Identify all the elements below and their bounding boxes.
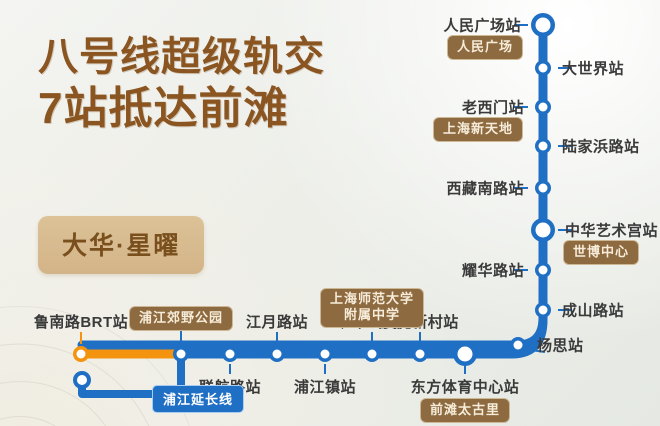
- poi-badge-line: 世博中心: [573, 244, 629, 260]
- headline-line-2: 7站抵达前滩: [38, 86, 325, 132]
- station-label-laoximen: 老西门站: [462, 97, 524, 118]
- station-dot-yaohua-lu[interactable]: [535, 262, 551, 278]
- station-dot-chengshan-lu[interactable]: [535, 302, 551, 318]
- station-dot-dashijie[interactable]: [535, 60, 551, 76]
- poi-badge-zhonghua-yishugong: 世博中心: [563, 240, 639, 265]
- station-dot-lunan-lu-brt[interactable]: [73, 346, 89, 362]
- station-label-yaohua-lu: 耀华路站: [462, 260, 524, 281]
- station-dot-shendu-gonglu[interactable]: [173, 346, 189, 362]
- poi-badge-renmin-guangchang: 人民广场: [447, 35, 523, 60]
- metro-line-poster: 八号线超级轨交 7站抵达前滩 大华·星曜: [0, 0, 660, 426]
- station-label-dashijie: 大世界站: [562, 58, 624, 79]
- station-dot-lujiabang-lu[interactable]: [535, 138, 551, 154]
- station-label-chengshan-lu: 成山路站: [562, 300, 624, 321]
- station-dot-jiangyue-lu[interactable]: [269, 346, 285, 362]
- headline-block: 八号线超级轨交 7站抵达前滩: [38, 36, 325, 132]
- poi-badge-laoximen: 上海新天地: [433, 117, 523, 142]
- station-label-pujiang-zhen: 浦江镇站: [294, 376, 356, 397]
- station-dot-pujiang-zhen[interactable]: [317, 346, 333, 362]
- poi-badge-luheng-lu: 上海师范大学附属中学: [320, 288, 424, 328]
- station-label-dongfang-tiyu: 东方体育中心站: [411, 376, 520, 397]
- station-label-lujiabang-lu: 陆家浜路站: [562, 136, 640, 157]
- station-label-lunan-lu-brt: 鲁南路BRT站: [34, 311, 128, 332]
- station-dot-laoximen[interactable]: [535, 99, 551, 115]
- poi-badge-line: 浦江郊野公园: [139, 310, 223, 326]
- station-dot-lingzhao-xincun[interactable]: [412, 346, 428, 362]
- poi-badge-line: 上海师范大学: [330, 291, 414, 307]
- station-label-jiangyue-lu: 江月路站: [246, 311, 308, 332]
- station-dot-xizang-nanlu[interactable]: [535, 180, 551, 196]
- station-label-xizang-nanlu: 西藏南路站: [446, 178, 524, 199]
- station-label-yangsi: 杨思站: [537, 335, 584, 356]
- station-dot-dongfang-tiyu[interactable]: [453, 342, 477, 366]
- station-dot-renmin-guangchang[interactable]: [531, 13, 555, 37]
- station-dot-lianhang-lu[interactable]: [222, 346, 238, 362]
- station-dot-yangsi[interactable]: [510, 337, 526, 353]
- station-label-renmin-guangchang: 人民广场站: [443, 15, 521, 36]
- station-dot-zhonghua-yishugong[interactable]: [531, 218, 555, 242]
- branch-badge: 浦江延长线: [152, 385, 244, 413]
- station-label-zhonghua-yishugong: 中华艺术宫站: [565, 220, 658, 241]
- poi-badge-dongfang-tiyu: 前滩太古里: [420, 398, 510, 423]
- poi-badge-shendu-gonglu: 浦江郊野公园: [129, 306, 233, 331]
- headline-line-1: 八号线超级轨交: [38, 36, 325, 78]
- brand-badge: 大华·星曜: [38, 216, 204, 274]
- poi-badge-line: 上海新天地: [443, 121, 513, 137]
- poi-badge-line: 前滩太古里: [430, 402, 500, 418]
- station-dot-pujiang-branch-end[interactable]: [73, 371, 91, 389]
- poi-badge-line: 人民广场: [457, 39, 513, 55]
- station-dot-luheng-lu[interactable]: [364, 346, 380, 362]
- poi-badge-line: 附属中学: [330, 307, 414, 323]
